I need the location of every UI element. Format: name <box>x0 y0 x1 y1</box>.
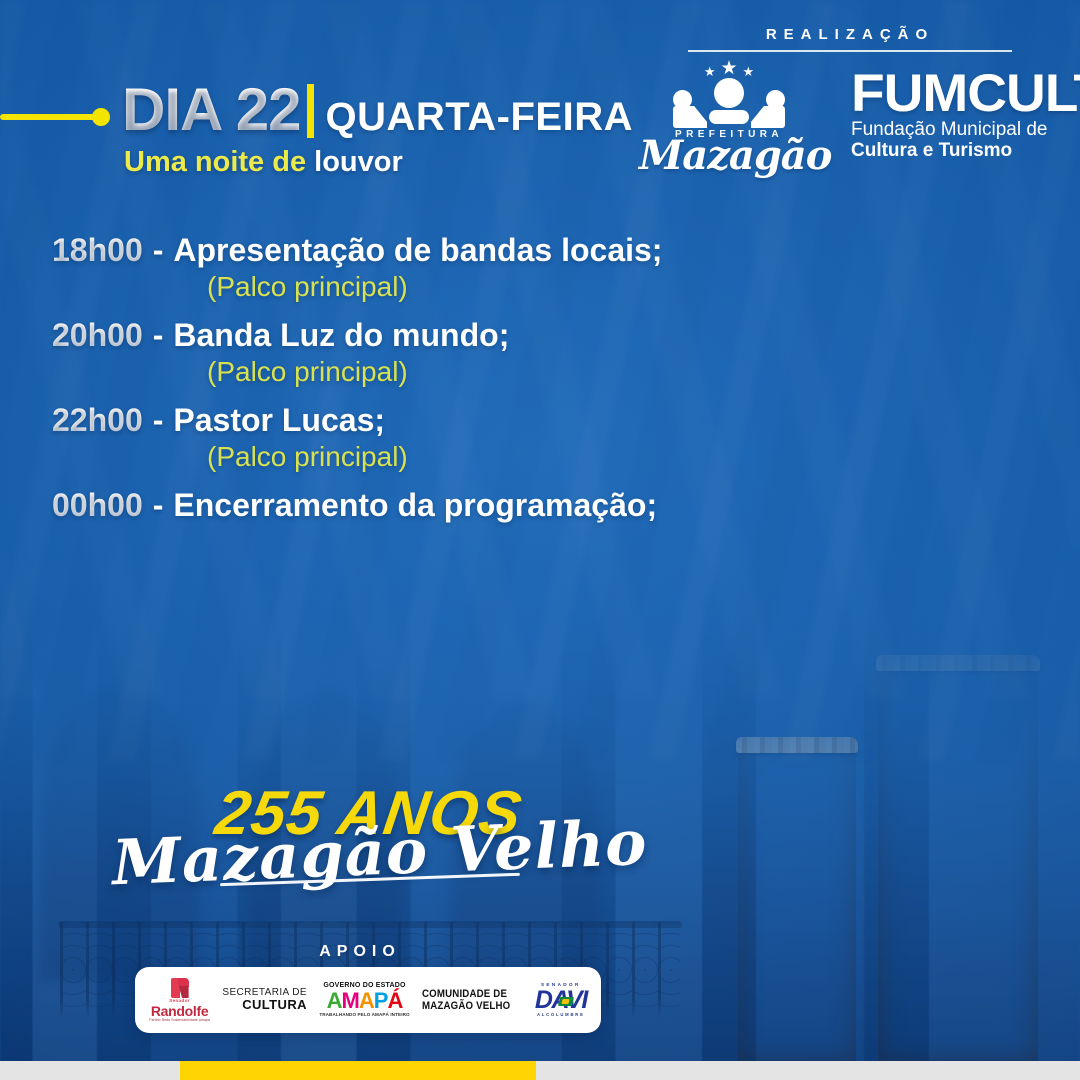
comunidade-line1: COMUNIDADE DE <box>422 988 507 1000</box>
subtitle: Uma noite de louvor <box>124 146 403 179</box>
amapa-wordmark: AMAPÁ <box>327 990 403 1012</box>
brazil-flag-icon <box>558 997 574 1006</box>
realizacao-logos: ★ ★ ★ PREFEITURA Mazagão <box>640 58 1060 174</box>
fumcult-logo: FUMCULT Fundação Municipal de Cultura e … <box>851 70 1061 163</box>
yellow-accent-line <box>0 114 96 120</box>
schedule-row: 00h00 - Encerramento da programação; <box>52 487 812 524</box>
yellow-accent-dot <box>92 108 110 126</box>
realizacao-block: REALIZAÇÃO ★ ★ ★ <box>640 26 1060 174</box>
davi-name: DAVI <box>535 988 587 1013</box>
schedule-dash: - <box>153 317 164 354</box>
fumcult-line2: Cultura e Turismo <box>851 141 1061 162</box>
apoio-label: APOIO <box>0 943 720 961</box>
handshake-icon <box>709 110 749 124</box>
headline-divider <box>307 84 314 138</box>
schedule-time: 18h00 <box>52 232 143 269</box>
randolfe-name: Randolfe <box>151 1004 209 1018</box>
comunidade-line2: MAZAGÃO VELHO <box>422 1000 510 1012</box>
schedule-venue: (Palco principal) <box>207 356 812 388</box>
anniversary-place: Mazagão Velho <box>111 806 649 900</box>
sponsor-senador-randolfe: Senador Randolfe Partido Rede Sustentabi… <box>149 978 210 1022</box>
sponsor-bar: Senador Randolfe Partido Rede Sustentabi… <box>135 967 601 1033</box>
day-label: DIA 22 <box>122 80 301 140</box>
sponsor-senador-davi: SENADOR DAVI ALCOLUMBRE <box>535 983 587 1017</box>
sponsor-comunidade-mazagao-velho: COMUNIDADE DE MAZAGÃO VELHO <box>422 988 522 1013</box>
schedule-row: 20h00 - Banda Luz do mundo; <box>52 317 812 354</box>
schedule-list: 18h00 - Apresentação de bandas locais; (… <box>52 232 812 526</box>
subtitle-light: Uma noite de <box>124 146 314 178</box>
randolfe-mark-icon <box>171 978 189 998</box>
bottom-yellow-block <box>180 1061 536 1080</box>
fumcult-name: FUMCULT <box>851 70 1069 119</box>
person-center-head <box>714 78 744 108</box>
schedule-title: Apresentação de bandas locais; <box>173 232 662 269</box>
schedule-row: 22h00 - Pastor Lucas; <box>52 402 812 439</box>
schedule-row: 18h00 - Apresentação de bandas locais; <box>52 232 812 269</box>
schedule-dash: - <box>153 402 164 439</box>
realizacao-label: REALIZAÇÃO <box>640 26 1060 43</box>
schedule-title: Encerramento da programação; <box>173 487 657 524</box>
weekday-label: QUARTA-FEIRA <box>326 97 633 137</box>
schedule-title: Banda Luz do mundo; <box>173 317 509 354</box>
schedule-time: 22h00 <box>52 402 143 439</box>
schedule-venue: (Palco principal) <box>207 441 812 473</box>
realizacao-rule <box>688 50 1012 52</box>
schedule-venue: (Palco principal) <box>207 271 812 303</box>
people-handshake-icon <box>639 76 819 128</box>
sponsor-governo-do-estado-amapa: GOVERNO DO ESTADO AMAPÁ TRABALHANDO PELO… <box>319 982 409 1018</box>
randolfe-sub: Partido Rede Sustentabilidade Amapá <box>149 1019 210 1022</box>
subtitle-bold: louvor <box>314 146 403 178</box>
headline: DIA 22 QUARTA-FEIRA <box>122 80 633 140</box>
event-poster: DIA 22 QUARTA-FEIRA Uma noite de louvor … <box>0 0 1080 1080</box>
anniversary-lockup: 255 ANOS Mazagão Velho <box>112 778 632 928</box>
three-stars-icon: ★ ★ ★ <box>639 58 819 78</box>
schedule-time: 20h00 <box>52 317 143 354</box>
amapa-bottom: TRABALHANDO PELO AMAPÁ INTEIRO <box>319 1013 409 1018</box>
people-arms <box>673 106 785 130</box>
prefeitura-name: Mazagão <box>639 138 819 174</box>
schedule-dash: - <box>153 487 164 524</box>
schedule-time: 00h00 <box>52 487 143 524</box>
bottom-strip <box>0 1061 1080 1080</box>
sponsor-secretaria-de-cultura: SECRETARIA DE CULTURA <box>222 987 306 1013</box>
cultura-line2: CULTURA <box>242 998 307 1013</box>
schedule-dash: - <box>153 232 164 269</box>
fumcult-line1: Fundação Municipal de <box>851 120 1061 141</box>
prefeitura-mazagao-logo: ★ ★ ★ PREFEITURA Mazagão <box>639 58 819 174</box>
schedule-title: Pastor Lucas; <box>173 402 385 439</box>
